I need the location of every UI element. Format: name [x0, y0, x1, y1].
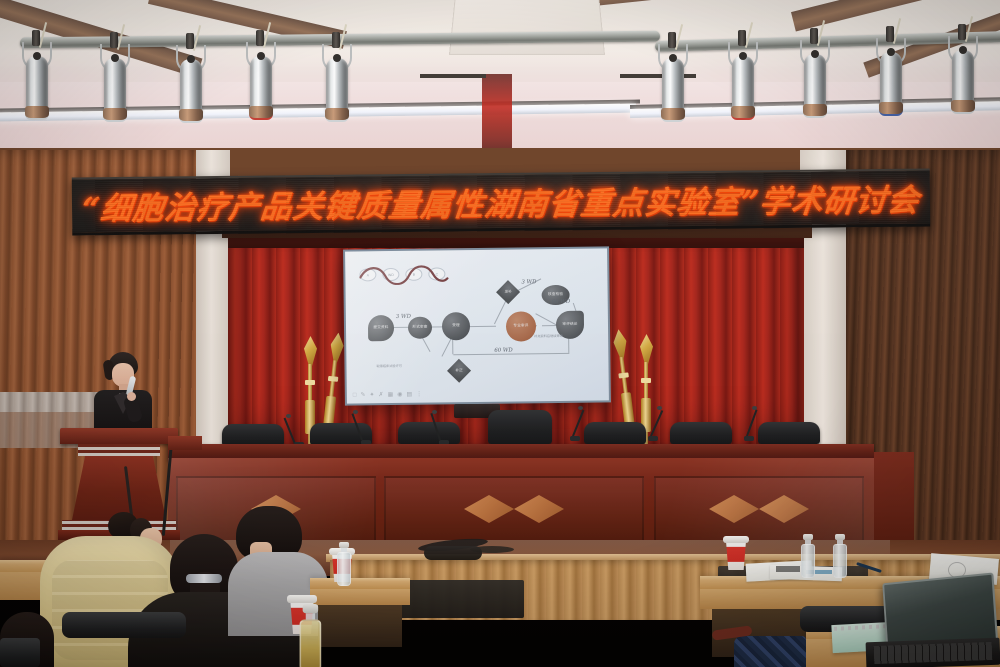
stage-desk-end — [874, 452, 914, 554]
dark-bag-on-bench — [424, 546, 482, 560]
flow-decision-label: 补正 — [455, 368, 462, 373]
speaker-figure — [88, 352, 158, 438]
flow-connector — [468, 326, 496, 327]
podium-trim — [78, 444, 160, 456]
diamond-inlay — [514, 495, 564, 523]
diamond-inlay — [709, 495, 759, 523]
slides-icon[interactable]: □ — [353, 392, 357, 398]
zoom-icon[interactable]: ◉ — [397, 392, 402, 398]
stage-chair — [222, 424, 284, 446]
stage-chair-center — [488, 410, 552, 444]
wall-bracket — [420, 74, 486, 78]
flow-node: 提交资料 — [368, 315, 394, 341]
led-banner: “细胞治疗产品关键质量属性湖南省重点实验室”学术研讨会 — [72, 169, 931, 236]
patterned-cloth — [734, 636, 806, 667]
ceiling-access-panel — [449, 0, 605, 55]
grid-icon[interactable]: ▦ — [388, 392, 394, 398]
slide-note: 补充资料后继续审评 — [534, 333, 563, 338]
cup-lid — [723, 536, 749, 543]
desk-inlay-panel — [384, 476, 644, 542]
eraser-icon[interactable]: ✗ — [378, 392, 383, 398]
flow-decision-node: 补正 — [447, 359, 471, 383]
handout-text-block — [776, 566, 800, 572]
cup-lid — [287, 595, 317, 603]
stage-chair — [398, 422, 460, 444]
slide-logo-group: A IND B C — [359, 262, 455, 285]
podium-top — [60, 428, 178, 444]
stage-chair — [584, 422, 646, 444]
stage-chair — [758, 422, 820, 444]
slide-note: 取得临床试验许可 — [376, 363, 402, 368]
presentation-slide: A IND B C 提交资料 — [345, 248, 609, 403]
flow-decision-label: 发补 — [504, 290, 511, 295]
flow-node-active: 专业审评 — [506, 311, 536, 341]
options-icon[interactable]: ▤ — [406, 392, 412, 398]
hair-tie — [186, 574, 222, 583]
flow-decision-node: 发补 — [496, 280, 520, 304]
wall-bracket — [620, 74, 696, 78]
led-banner-text: “细胞治疗产品关键质量属性湖南省重点实验室”学术研讨会 — [80, 175, 922, 229]
front-desk-mid-face — [310, 589, 410, 605]
desk-inlay-panel — [654, 476, 864, 542]
stage-chair — [670, 422, 732, 444]
diamond-inlay — [464, 495, 514, 523]
chair-brand-label — [94, 620, 150, 627]
desk-cavity — [318, 605, 402, 647]
wavy-line-logo-icon — [359, 262, 455, 285]
more-icon[interactable]: ⋮ — [416, 392, 422, 398]
speaker-hand — [127, 392, 136, 401]
podium-body — [72, 456, 166, 520]
audience-chair-back — [0, 638, 40, 667]
diamond-inlay — [759, 495, 809, 523]
laser-pointer-icon[interactable]: ✦ — [369, 392, 374, 398]
slide-annotation: 3 WD — [396, 314, 411, 320]
side-lectern-top — [168, 436, 202, 450]
slide-annotation: 3 WD — [521, 279, 536, 285]
slide-annotation: 60 WD — [552, 299, 571, 305]
presenter-toolbar[interactable]: □ ✎ ✦ ✗ ▦ ◉ ▤ ⋮ — [353, 391, 422, 400]
flow-node: 受理 — [442, 312, 470, 340]
projection-screen: A IND B C 提交资料 — [343, 246, 611, 405]
slide-annotation: 60 WD — [494, 348, 513, 354]
pen-icon[interactable]: ✎ — [360, 392, 365, 398]
flow-node: 形式审查 — [408, 317, 432, 339]
conference-hall-photo: “细胞治疗产品关键质量属性湖南省重点实验室”学术研讨会 A IND B C — [0, 0, 1000, 667]
